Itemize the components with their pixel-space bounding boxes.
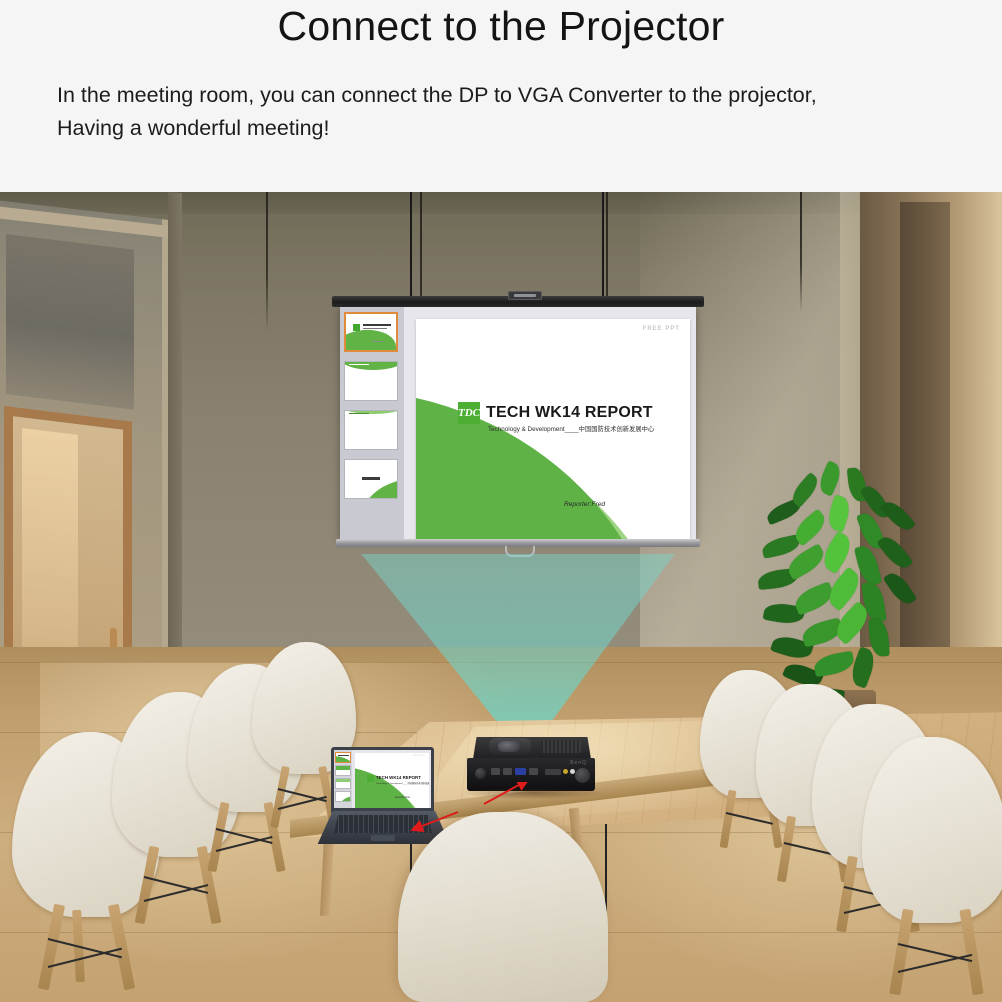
thumb-heading-line <box>349 413 369 414</box>
thumb-green-swoosh <box>335 756 351 763</box>
slide-thumbnail-1[interactable] <box>344 312 398 352</box>
slide-subtitle: Technology & Development____中国国防技术创新发展中心 <box>376 781 429 785</box>
thumb-center-line <box>362 477 380 480</box>
description-line-1: In the meeting room, you can connect the… <box>57 79 957 112</box>
wall-seam <box>266 192 268 332</box>
projector-power-socket[interactable] <box>475 768 486 779</box>
thumb-green-swoosh <box>340 796 351 802</box>
slide-watermark: FREE PPT <box>413 755 426 757</box>
projector-brand-label: BenQ <box>570 760 587 766</box>
current-slide: FREE PPT TDC TECH WK14 REPORT Technology… <box>416 319 690 539</box>
projector-lens <box>498 741 520 752</box>
laptop-lid: FREE PPT TECH WK14 REPORT Technology & D… <box>331 747 434 813</box>
plant-leaf <box>816 460 845 496</box>
slide-thumbnail-panel[interactable] <box>340 307 404 539</box>
thumb-reporter-line <box>372 341 383 342</box>
thumb-green-header <box>344 361 398 370</box>
thumb-title-line <box>338 755 349 756</box>
projector-port-hdmi[interactable] <box>491 768 500 775</box>
chair-front-center[interactable] <box>398 812 608 1002</box>
screen-mount-slot <box>514 294 536 297</box>
glass-upper-pane <box>6 234 134 410</box>
laptop-screen: FREE PPT TECH WK14 REPORT Technology & D… <box>334 750 431 808</box>
slide-reporter: Reporter:Fred <box>564 501 605 508</box>
plant-leaf <box>883 569 917 608</box>
page-title: Connect to the Projector <box>0 2 1002 51</box>
projector-vent <box>541 740 581 753</box>
wall-seam <box>800 192 802 312</box>
projection-screen: FREE PPT TDC TECH WK14 REPORT Technology… <box>340 296 696 556</box>
slide-stage: FREE PPT TDC TECH WK14 REPORT Technology… <box>404 307 696 539</box>
projector-port-rca-yellow[interactable] <box>563 769 568 774</box>
meeting-room-scene: FREE PPT TDC TECH WK14 REPORT Technology… <box>0 192 1002 1002</box>
slide-thumbnail-4[interactable] <box>344 459 398 499</box>
projector-port-usb[interactable] <box>503 768 512 775</box>
thumb-subtitle-line <box>363 328 387 329</box>
laptop-thumb-1 <box>335 752 351 763</box>
screen-surface: FREE PPT TDC TECH WK14 REPORT Technology… <box>340 307 696 539</box>
page-description: In the meeting room, you can connect the… <box>57 79 957 145</box>
chair-seat <box>862 737 1002 923</box>
plant-leaf <box>825 494 854 532</box>
plant-leaf <box>877 532 914 572</box>
powerpoint-window: FREE PPT TDC TECH WK14 REPORT Technology… <box>340 307 696 539</box>
slide-logo-icon: TDC <box>458 402 480 424</box>
slide-title: TECH WK14 REPORT <box>486 404 653 422</box>
thumb-green-header <box>336 766 351 770</box>
slide-subtitle: Technology & Development____中国国防技术创新发展中心 <box>488 424 654 433</box>
slide-watermark: FREE PPT <box>643 326 680 332</box>
slide-swoosh-dark <box>355 766 427 808</box>
thumb-heading-line <box>349 364 369 365</box>
slide-title: TECH WK14 REPORT <box>376 775 421 780</box>
thumb-logo-icon <box>353 324 360 331</box>
projector-focus-knob[interactable] <box>575 768 590 783</box>
slide-thumbnail-2[interactable] <box>344 361 398 401</box>
laptop-thumb-3 <box>335 778 351 789</box>
thumb-green-header <box>336 779 351 782</box>
screen-pull-handle[interactable] <box>505 546 535 557</box>
projector-port-aux[interactable] <box>529 768 538 775</box>
thumb-green-swoosh <box>360 478 398 499</box>
laptop-trackpad[interactable] <box>371 835 395 841</box>
plant-leaf <box>788 472 823 508</box>
projector-shadow <box>463 789 603 799</box>
slide-reporter: Reporter:Fred <box>395 796 410 799</box>
laptop-thumb-2 <box>335 765 351 776</box>
thumb-title-line <box>363 324 391 326</box>
ceiling-wire <box>602 192 604 300</box>
projector-port-vga[interactable] <box>515 768 526 775</box>
plant-leaf <box>813 651 856 678</box>
laptop-thumb-4 <box>335 791 351 802</box>
chair-seat <box>398 812 608 1002</box>
laptop-slide-thumbnails <box>334 750 352 808</box>
projector-port-serial[interactable] <box>545 769 561 775</box>
description-line-2: Having a wonderful meeting! <box>57 112 957 145</box>
laptop-slide-stage: FREE PPT TECH WK14 REPORT Technology & D… <box>352 750 431 808</box>
thumb-green-swoosh <box>344 328 397 352</box>
projector[interactable]: BenQ <box>467 737 595 799</box>
ceiling-wire <box>410 192 412 300</box>
slide-logo-icon <box>367 775 374 782</box>
header-banner: Connect to the Projector In the meeting … <box>0 0 1002 192</box>
slide-thumbnail-3[interactable] <box>344 410 398 450</box>
laptop-current-slide: FREE PPT TECH WK14 REPORT Technology & D… <box>355 753 429 808</box>
